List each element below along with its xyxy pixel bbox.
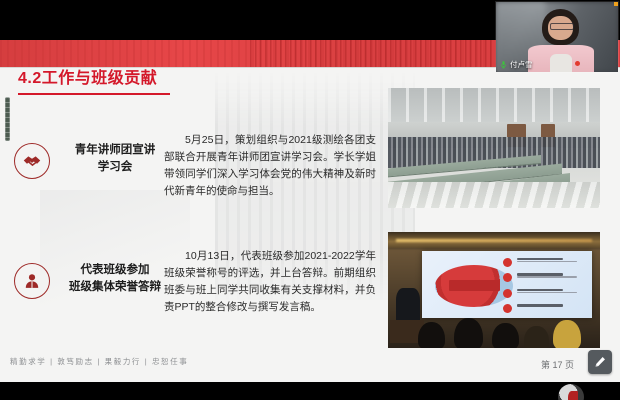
bullet-subline [517, 261, 576, 262]
screen-bullet-2 [503, 273, 581, 279]
pres-ceiling-lights [388, 232, 600, 248]
bullet-line [517, 289, 562, 291]
hall-floor [388, 182, 600, 208]
bullet-subline [517, 276, 576, 277]
hall-ceiling [388, 88, 600, 124]
bullet-dot-icon [503, 289, 512, 298]
annotate-pen-icon[interactable] [588, 350, 612, 374]
participant-video-tile[interactable]: 付卢雪 [496, 2, 618, 72]
screen-bullet-4 [503, 304, 581, 310]
letterbox-bottom [0, 382, 620, 400]
meeting-screen-share-view: 4.2工作与班级贡献 青年讲师团宣讲学习会 5月25日，策划组织与2021级测绘… [0, 0, 620, 400]
lecture-hall-photo [388, 88, 600, 208]
bullet-dot-icon [503, 304, 512, 313]
participant-shirt [550, 54, 572, 72]
row-1-label: 青年讲师团宣讲学习会 [60, 135, 170, 175]
slide-footer-motto: 精勤求学 | 敦笃励志 | 果毅力行 | 忠恕任事 [10, 356, 188, 367]
bullet-dot-icon [503, 258, 512, 267]
handshake-icon [14, 143, 50, 179]
speaker-person-icon [14, 263, 50, 299]
screen-bullet-1 [503, 257, 581, 263]
page-title: 4.2工作与班级贡献 [18, 71, 157, 87]
content-row-1: 青年讲师团宣讲学习会 [14, 135, 170, 179]
microphone-icon [499, 59, 508, 70]
bullet-subline [517, 292, 576, 293]
bullet-line [517, 304, 562, 306]
participant-name-chip: 付卢雪 [499, 59, 533, 70]
audience-head [418, 322, 446, 348]
row-2-paragraph: 10月13日，代表班级参加2021-2022学年班级荣誉称号的评选，并上台答辩。… [164, 248, 376, 316]
pres-audience [388, 313, 600, 348]
audience-head [553, 320, 581, 348]
audience-head [454, 318, 484, 348]
page-title-text: 4.2工作与班级贡献 [18, 71, 157, 87]
participant-name: 付卢雪 [510, 59, 533, 70]
slide-page-number: 第 17 页 [541, 358, 574, 371]
content-row-2: 代表班级参加班级集体荣誉答辩 [14, 255, 170, 299]
webcam-corner-marker [614, 2, 618, 6]
pres-scene [388, 232, 600, 348]
bullet-line [517, 258, 562, 260]
audience-head [492, 323, 520, 348]
participant-glasses [550, 23, 574, 30]
title-underline [18, 93, 170, 95]
row-1-paragraph: 5月25日，策划组织与2021级测绘各团支部联合开展青年讲师团宣讲学习会。学长学… [164, 132, 376, 200]
hall-scene [388, 88, 600, 208]
row-2-label: 代表班级参加班级集体荣誉答辩 [60, 255, 170, 295]
audience-head [524, 326, 549, 348]
scroll-indicator[interactable] [5, 97, 10, 141]
screen-center-title [449, 280, 500, 291]
presentation-slide: 4.2工作与班级贡献 青年讲师团宣讲学习会 5月25日，策划组织与2021级测绘… [0, 40, 620, 382]
presentation-stage-photo [388, 232, 600, 348]
projected-screen [422, 251, 592, 318]
screen-bullet-3 [503, 288, 581, 294]
